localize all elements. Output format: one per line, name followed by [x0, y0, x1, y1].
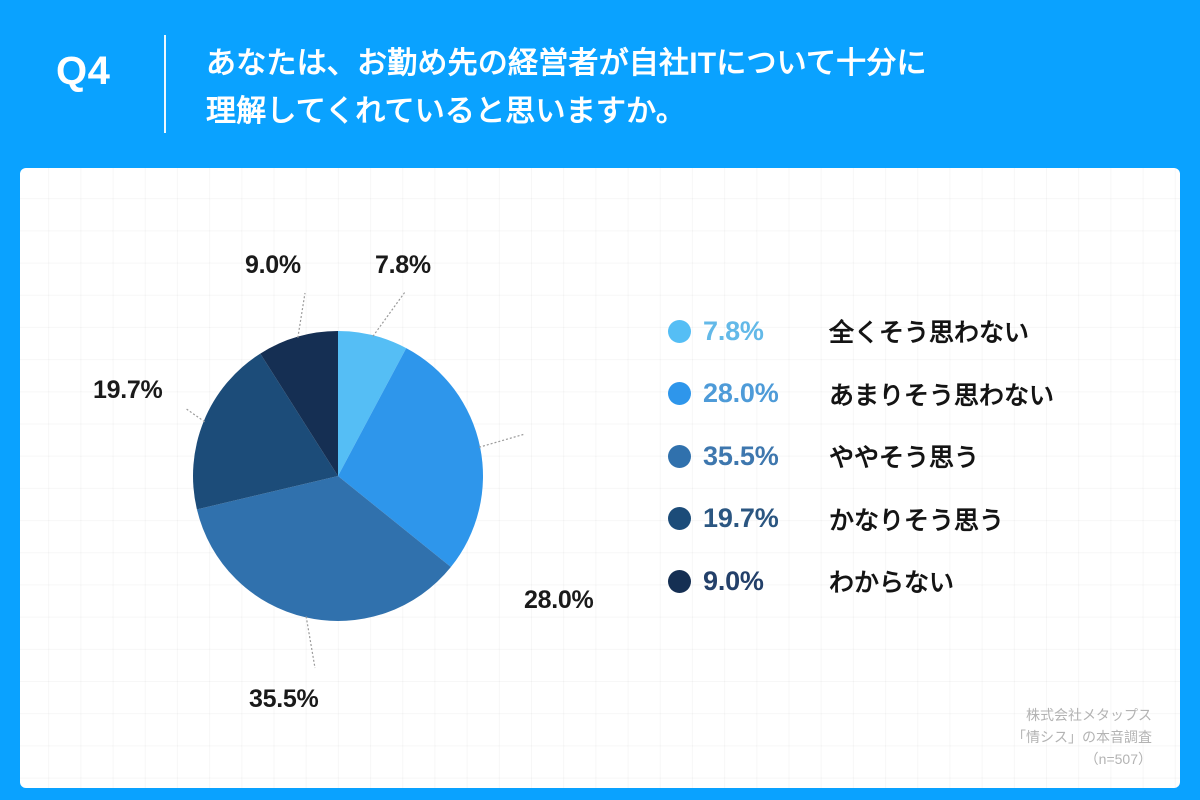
slide-root: Q4 あなたは、お勤め先の経営者が自社ITについて十分に 理解してくれていると思…: [0, 0, 1200, 800]
pie-slices: [193, 331, 483, 621]
legend-percentage: 9.0%: [703, 566, 829, 597]
chart-card: 7.8%28.0%35.5%19.7%9.0% 7.8%全くそう思わない28.0…: [20, 168, 1180, 788]
legend-color-dot-icon: [668, 445, 691, 468]
legend-label: あまりそう思わない: [829, 376, 1054, 412]
pie-leader-line: [373, 292, 405, 336]
legend-color-dot-icon: [668, 382, 691, 405]
question-title: あなたは、お勤め先の経営者が自社ITについて十分に 理解してくれていると思います…: [206, 40, 1126, 136]
legend-percentage: 19.7%: [703, 503, 829, 534]
legend-label: ややそう思う: [829, 438, 979, 474]
question-number: Q4: [56, 47, 156, 95]
pie-leader-line: [298, 293, 305, 338]
pie-leader-line: [306, 616, 315, 668]
pie-value-label: 9.0%: [245, 251, 301, 280]
legend-color-dot-icon: [668, 507, 691, 530]
legend-item[interactable]: 9.0%わからない: [668, 550, 1138, 613]
legend-color-dot-icon: [668, 320, 691, 343]
legend-percentage: 28.0%: [703, 378, 829, 409]
legend-item[interactable]: 7.8%全くそう思わない: [668, 300, 1138, 363]
pie-leader-line: [479, 434, 525, 447]
source-survey: 「情シス」の本音調査: [1012, 726, 1152, 748]
legend-percentage: 35.5%: [703, 441, 829, 472]
pie-value-label: 7.8%: [375, 251, 431, 280]
question-title-line-1: あなたは、お勤め先の経営者が自社ITについて十分に: [206, 40, 1126, 88]
legend-label: 全くそう思わない: [829, 313, 1029, 349]
legend-label: わからない: [829, 563, 954, 599]
pie-value-label: 35.5%: [249, 685, 318, 714]
legend-percentage: 7.8%: [703, 316, 829, 347]
pie-value-label: 28.0%: [524, 586, 593, 615]
pie-leader-line: [185, 408, 205, 422]
legend-item[interactable]: 19.7%かなりそう思う: [668, 488, 1138, 551]
source-company: 株式会社メタップス: [1012, 704, 1152, 726]
legend-label: かなりそう思う: [829, 501, 1004, 537]
legend-color-dot-icon: [668, 570, 691, 593]
pie-value-label: 19.7%: [93, 376, 162, 405]
source-footer: 株式会社メタップス 「情シス」の本音調査 （n=507）: [1012, 704, 1152, 770]
source-sample-size: （n=507）: [1012, 748, 1152, 770]
header-divider: [164, 35, 166, 133]
chart-legend: 7.8%全くそう思わない28.0%あまりそう思わない35.5%ややそう思う19.…: [668, 300, 1138, 613]
question-title-line-2: 理解してくれていると思いますか。: [206, 88, 1126, 136]
legend-item[interactable]: 35.5%ややそう思う: [668, 425, 1138, 488]
question-header: Q4 あなたは、お勤め先の経営者が自社ITについて十分に 理解してくれていると思…: [0, 0, 1200, 168]
legend-item[interactable]: 28.0%あまりそう思わない: [668, 363, 1138, 426]
